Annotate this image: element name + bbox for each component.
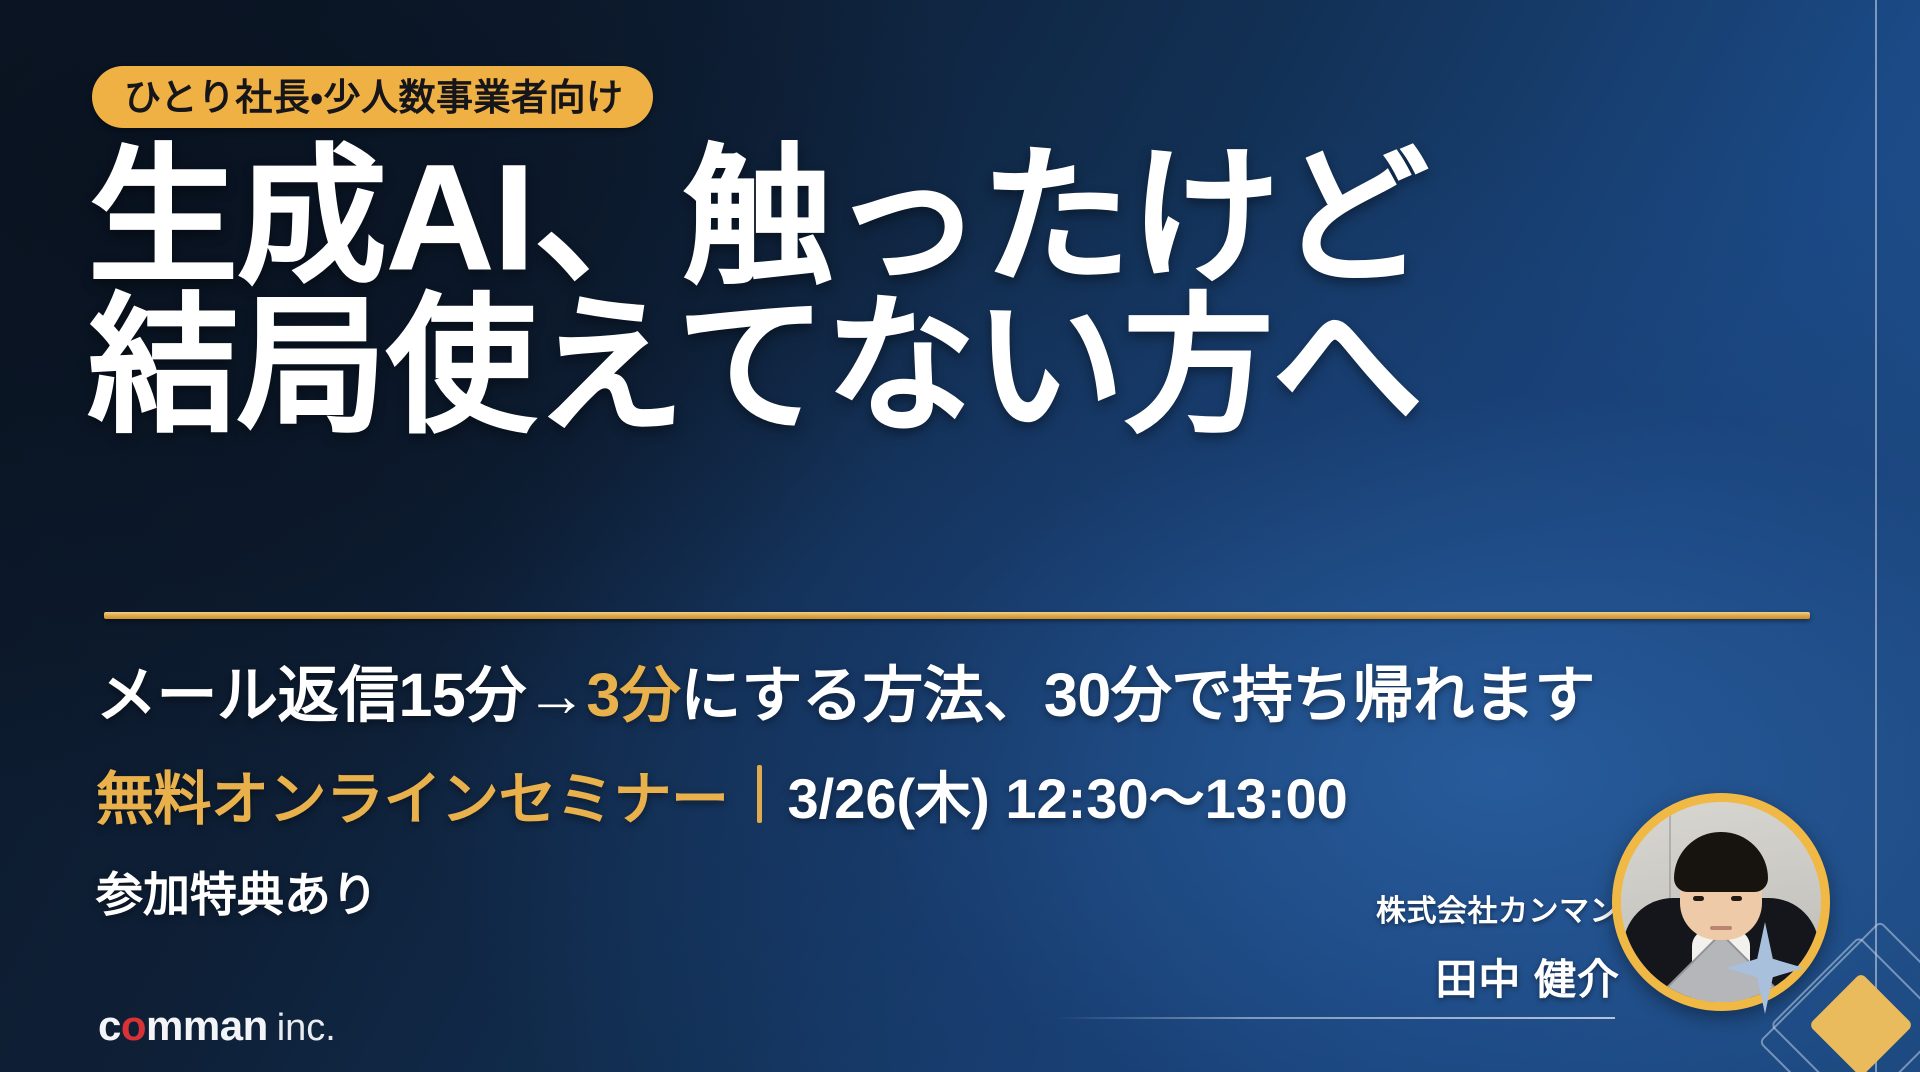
subheadline-after: にする方法、30分で持ち帰れます: [680, 661, 1594, 729]
event-info-row: 無料オンラインセミナー 3/26(木) 12:30〜13:00: [96, 752, 1348, 836]
headline-line-2: 結局使えてない方へ: [88, 289, 1848, 444]
audience-badge-label: ひとり社長・少人数事業者向け: [124, 79, 623, 116]
logo-o-dot: o: [121, 1002, 146, 1049]
speaker-portrait-image: [1621, 802, 1821, 1002]
headline: 生成AI、触ったけど 結局使えてない方へ: [88, 140, 1848, 443]
vertical-separator: [757, 765, 762, 823]
logo-suffix: inc.: [277, 1007, 336, 1050]
speaker-underline: [1055, 1017, 1615, 1019]
seminar-poster: ひとり社長・少人数事業者向け 生成AI、触ったけど 結局使えてない方へ メール返…: [0, 0, 1920, 1072]
event-datetime: 3/26(木) 12:30〜13:00: [788, 754, 1348, 835]
subheadline-accent: 3分: [586, 661, 680, 729]
logo-mman: mman: [146, 1002, 268, 1049]
portrait-hair-fringe: [1673, 854, 1769, 888]
company-logo: comman inc.: [98, 1002, 336, 1050]
portrait-eye-left: [1693, 896, 1704, 901]
right-edge-divider: [1875, 0, 1877, 1072]
speaker-company: 株式会社カンマン: [1376, 886, 1620, 930]
headline-line-1: 生成AI、触ったけど: [88, 140, 1848, 295]
gold-divider: [104, 612, 1810, 619]
subheadline: メール返信15分→3分にする方法、30分で持ち帰れます: [96, 645, 1595, 734]
logo-c: c: [98, 1002, 121, 1049]
avatar: [1612, 793, 1830, 1011]
perk-note: 参加特典あり: [96, 856, 378, 925]
gold-diamond-icon: [1809, 973, 1914, 1072]
free-seminar-label: 無料オンラインセミナー: [96, 752, 729, 836]
speaker-name: 田中 健介: [1376, 946, 1620, 1007]
audience-badge: ひとり社長・少人数事業者向け: [92, 66, 653, 128]
logo-wordmark: comman: [98, 1002, 268, 1050]
speaker-info: 株式会社カンマン 田中 健介: [1376, 886, 1620, 1007]
portrait-eye-right: [1731, 896, 1742, 901]
subheadline-before: メール返信15分→: [96, 661, 586, 729]
portrait-mouth: [1710, 926, 1732, 930]
